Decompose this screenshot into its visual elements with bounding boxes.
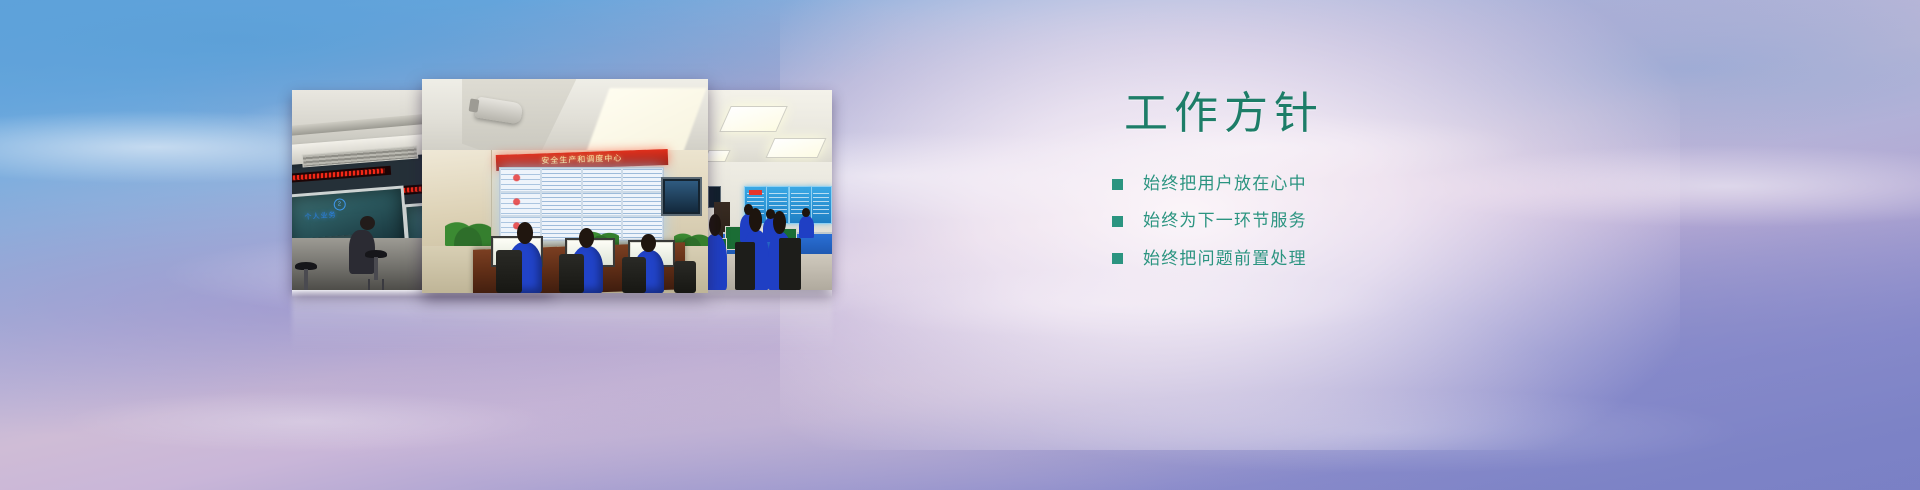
operator-chair	[496, 250, 522, 293]
policy-list: 始终把用户放在心中 始终为下一环节服务 始终把问题前置处理	[1112, 174, 1532, 269]
control-room-scene: 安全生产和调度中心	[422, 79, 708, 293]
hall-stool	[365, 250, 387, 280]
operator-chair	[674, 261, 696, 293]
staff-member	[799, 216, 814, 238]
square-bullet-icon	[1112, 216, 1123, 227]
office-chair	[779, 238, 801, 290]
window-signage: 个人业务	[304, 210, 337, 222]
photo-reflection	[292, 292, 832, 352]
operator-chair	[559, 254, 584, 293]
staff-member	[708, 234, 727, 290]
list-item[interactable]: 始终把问题前置处理	[1112, 249, 1532, 269]
square-bullet-icon	[1112, 179, 1123, 190]
page-title: 工作方针	[1124, 92, 1532, 136]
list-item-label: 始终把问题前置处理	[1143, 249, 1307, 269]
ceiling-light	[766, 138, 826, 158]
seated-customer-head	[360, 216, 375, 230]
list-item[interactable]: 始终把用户放在心中	[1112, 174, 1532, 194]
operator-chair	[622, 257, 646, 293]
banner-text-block: 工作方针 始终把用户放在心中 始终为下一环节服务 始终把问题前置处理	[1112, 92, 1532, 286]
operations-office-photo[interactable]	[708, 90, 832, 290]
list-item[interactable]: 始终为下一环节服务	[1112, 211, 1532, 231]
dispatch-control-center-photo[interactable]: 安全生产和调度中心	[422, 79, 708, 293]
photo-gallery: 2 个人业务 对公业务	[0, 0, 900, 400]
list-item-label: 始终把用户放在心中	[1143, 174, 1307, 194]
ceiling-light	[720, 106, 788, 132]
square-bullet-icon	[1112, 253, 1123, 264]
side-wall-monitor	[661, 177, 702, 215]
list-item-label: 始终为下一环节服务	[1143, 211, 1307, 231]
hero-banner: 2 个人业务 对公业务	[0, 0, 1920, 490]
hall-stool	[295, 262, 317, 290]
office-chair	[735, 242, 755, 290]
info-board	[811, 186, 832, 224]
hall-led-ticker	[292, 166, 391, 184]
operations-room-scene	[708, 90, 832, 290]
